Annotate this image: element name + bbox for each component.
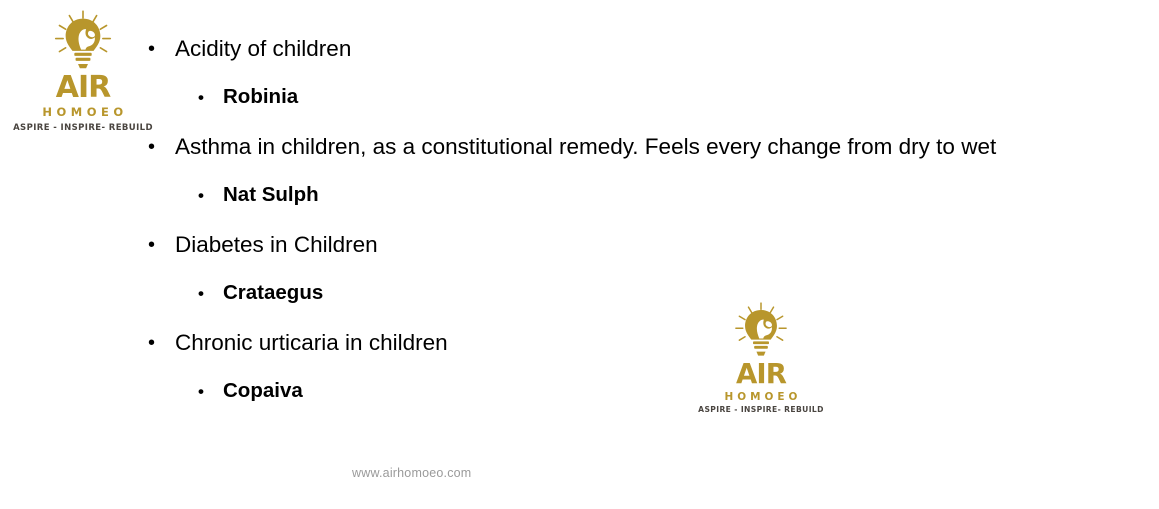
list-item-label: Crataegus: [223, 283, 323, 304]
list-item: • Chronic urticaria in children: [148, 332, 1128, 381]
list-item: • Acidity of children: [148, 38, 1128, 87]
list-item-label: Diabetes in Children: [175, 234, 378, 257]
lightbulb-icon: [52, 10, 114, 72]
logo-word-air: AIR: [56, 73, 110, 103]
logo-word-air: AIR: [736, 360, 786, 388]
bullet-marker-icon: •: [198, 381, 223, 402]
list-item: • Diabetes in Children: [148, 234, 1128, 283]
bullet-list: • Acidity of children • Robinia • Asthma…: [148, 38, 1128, 430]
logo-word-homoeo: HOMOEO: [721, 391, 802, 401]
slide-canvas: AIR HOMOEO ASPIRE - INSPIRE- REBUILD • A…: [0, 0, 1159, 509]
logo-tagline: ASPIRE - INSPIRE- REBUILD: [13, 124, 153, 133]
brand-logo-top-left: AIR HOMOEO ASPIRE - INSPIRE- REBUILD: [30, 10, 136, 132]
bullet-marker-icon: •: [198, 185, 223, 206]
bullet-marker-icon: •: [198, 283, 223, 304]
list-item-label: Nat Sulph: [223, 185, 319, 206]
list-item-label: Robinia: [223, 87, 298, 108]
logo-tagline: ASPIRE - INSPIRE- REBUILD: [698, 407, 824, 415]
list-item-label: Chronic urticaria in children: [175, 332, 448, 355]
logo-word-homoeo: HOMOEO: [38, 107, 127, 119]
brand-logo-center: AIR HOMOEO ASPIRE - INSPIRE- REBUILD: [709, 302, 814, 414]
bullet-marker-icon: •: [148, 38, 175, 61]
list-item-label: Acidity of children: [175, 38, 351, 61]
bullet-marker-icon: •: [148, 234, 175, 257]
lightbulb-icon: [733, 302, 790, 359]
footer-website-url: www.airhomoeo.com: [352, 466, 471, 480]
list-item: • Crataegus: [148, 283, 1128, 332]
list-item-label: Copaiva: [223, 381, 303, 402]
bullet-marker-icon: •: [148, 332, 175, 355]
list-item: • Robinia: [148, 87, 1128, 136]
list-item-label: Asthma in children, as a constitutional …: [175, 136, 996, 159]
bullet-marker-icon: •: [148, 136, 175, 159]
list-item: • Asthma in children, as a constitutiona…: [148, 136, 1128, 185]
bullet-marker-icon: •: [198, 87, 223, 108]
list-item: • Nat Sulph: [148, 185, 1128, 234]
list-item: • Copaiva: [148, 381, 1128, 430]
